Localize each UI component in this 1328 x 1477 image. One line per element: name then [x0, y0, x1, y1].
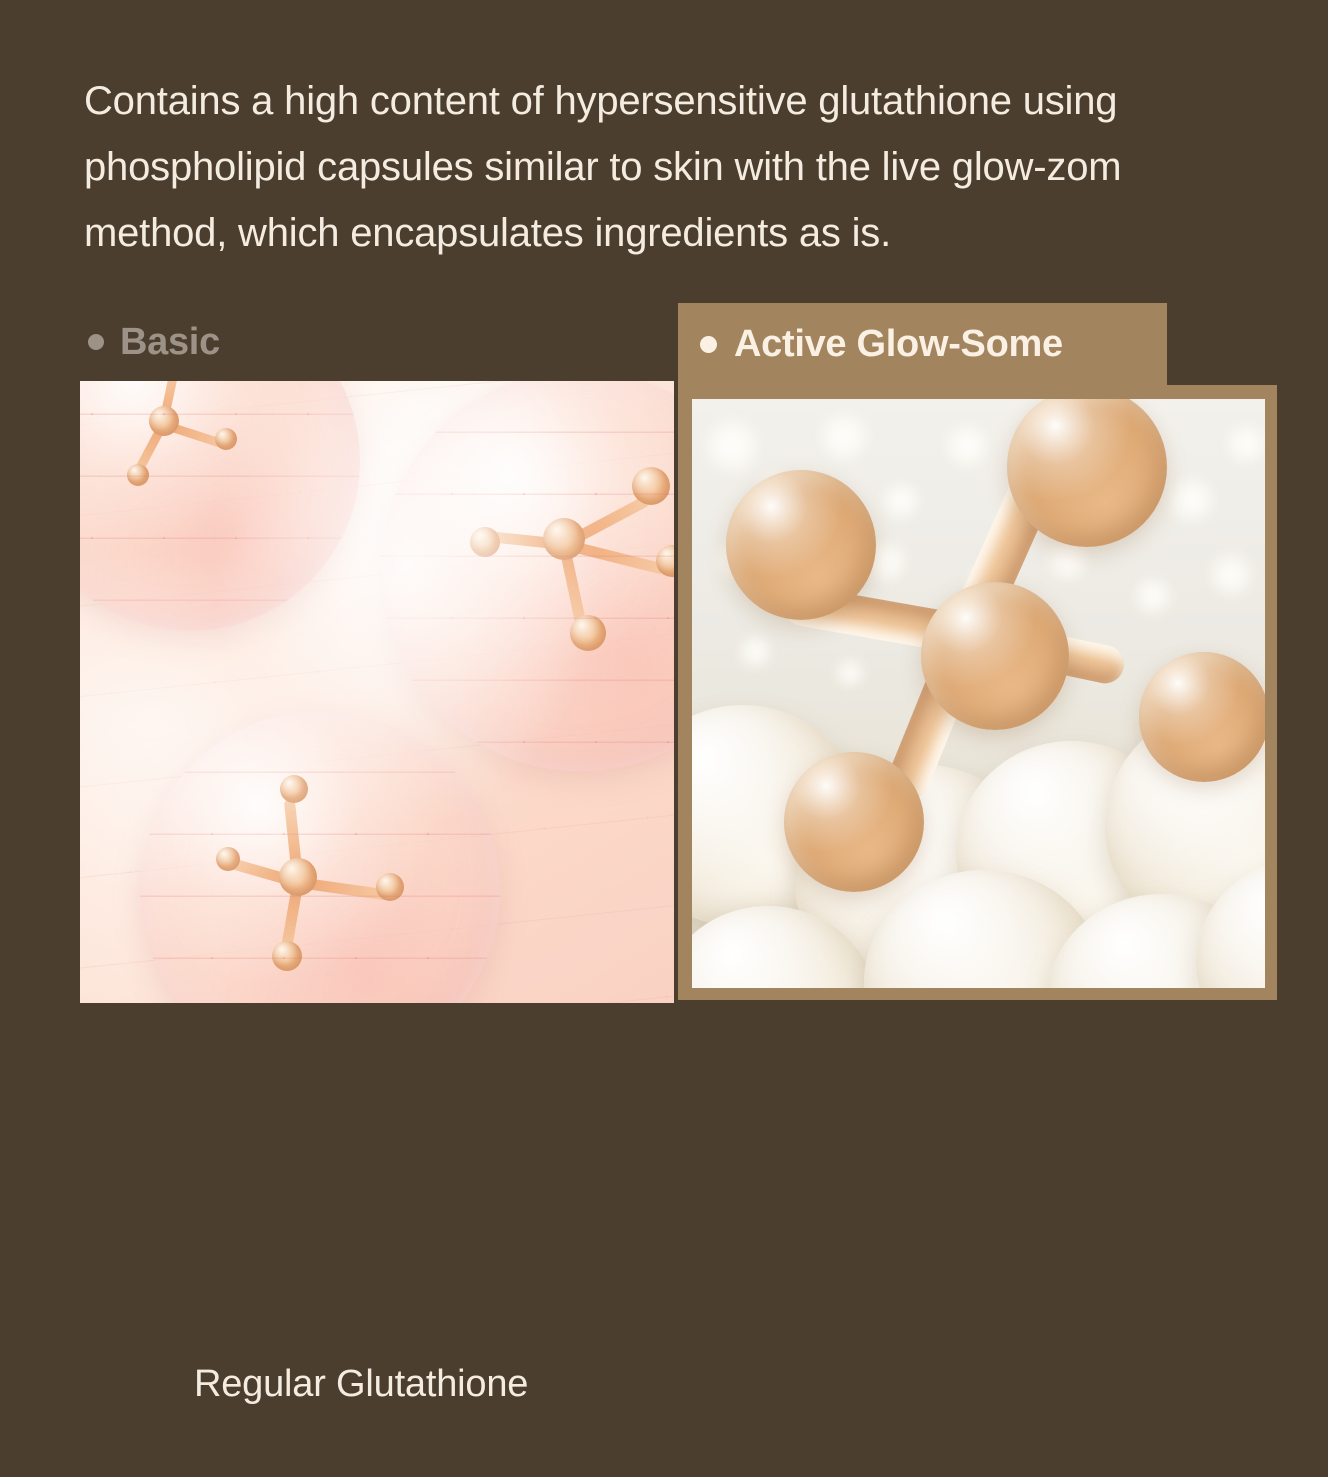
image-activated-glutathione — [692, 399, 1265, 988]
caption-regular-glutathione: Regular Glutathione — [194, 1353, 734, 1415]
tag-active-glow-some: Active Glow-Some — [678, 303, 1167, 385]
image-regular-glutathione — [80, 381, 674, 1003]
bullet-dot-icon — [88, 334, 104, 350]
bullet-dot-icon — [700, 336, 717, 353]
comparison-column-basic: Basic — [80, 303, 676, 1003]
highlight-sheen — [80, 381, 674, 1003]
highlight-frame — [678, 385, 1277, 1000]
tag-basic: Basic — [80, 303, 676, 381]
tag-basic-label: Basic — [120, 321, 220, 364]
tag-active-label: Active Glow-Some — [734, 323, 1063, 366]
comparison-section: Basic — [0, 0, 1328, 1206]
